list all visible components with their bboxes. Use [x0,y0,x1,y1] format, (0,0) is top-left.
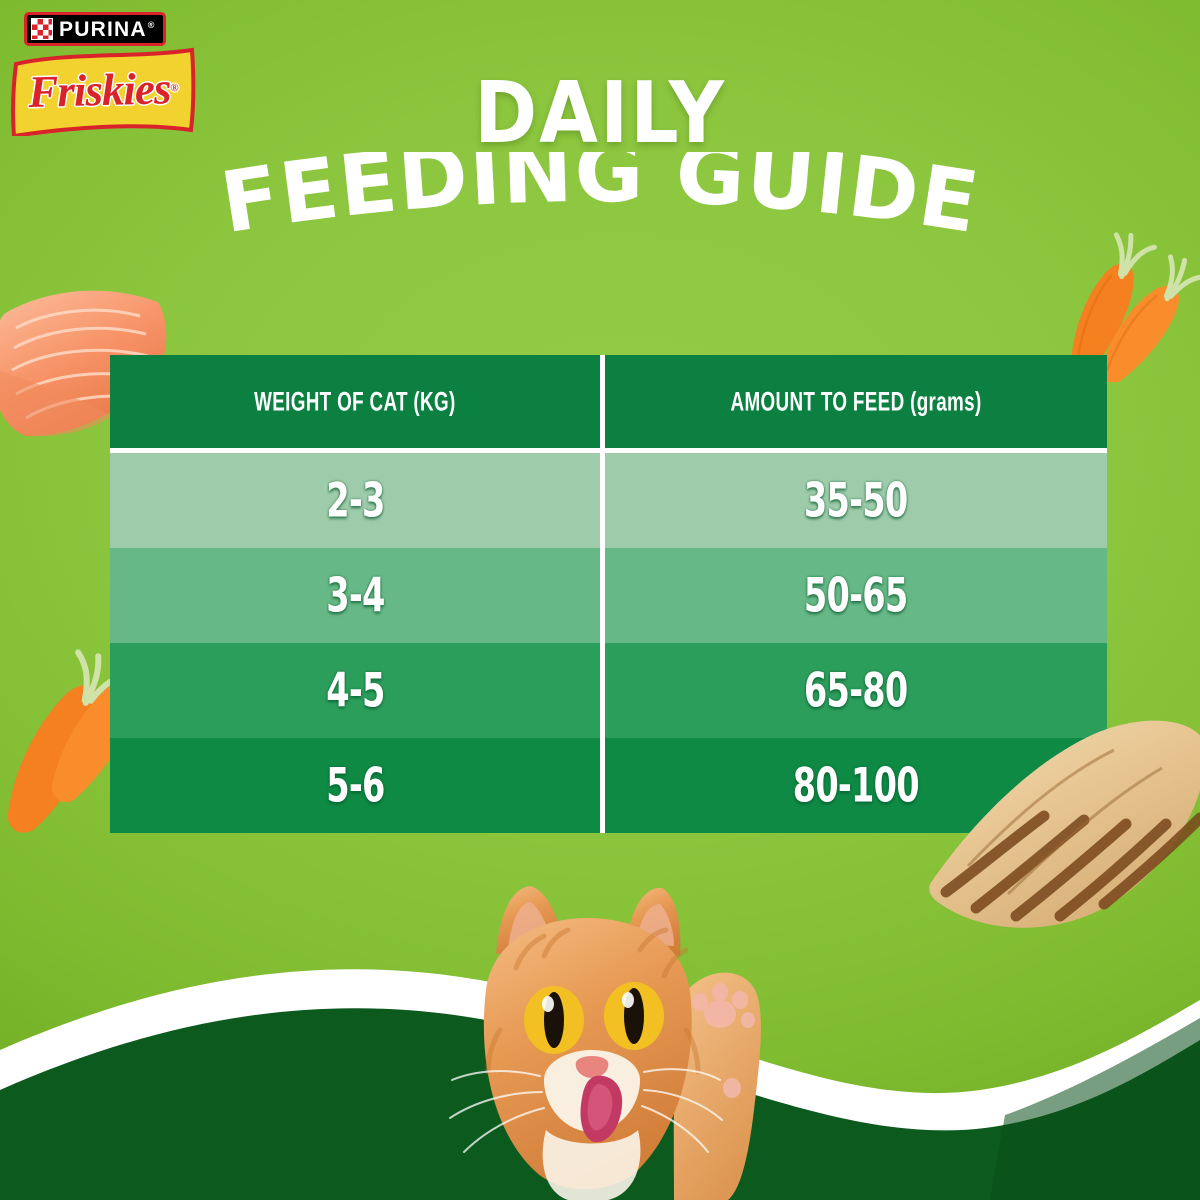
title-line-feeding-guide: FEEDING GUIDE [0,152,1200,262]
purina-checkerboard-icon [31,18,53,40]
table-cell-weight-value: 3-4 [326,568,384,623]
friskies-text: Friskies [28,62,171,118]
carrots-middle-left-image [0,648,126,833]
table-cell-weight-value: 5-6 [326,758,384,813]
table-cell-weight-value: 4-5 [326,663,384,718]
table-cell-weight-value: 2-3 [326,473,384,528]
table-cell-weight: 5-6 [110,738,605,833]
table-cell-weight: 3-4 [110,548,605,643]
table-cell-amount: 50-65 [605,548,1107,643]
friskies-wordmark: Friskies® [7,42,199,139]
friskies-logo: Friskies® [8,44,198,136]
table-cell-amount: 35-50 [605,453,1107,548]
table-cell-amount-value: 35-50 [804,473,907,528]
table-cell-amount-value: 65-80 [804,663,907,718]
table-cell-amount-value: 80-100 [793,758,919,813]
table-cell-weight: 2-3 [110,453,605,548]
grilled-chicken-image [908,716,1200,941]
table-row: 3-4 50-65 [110,548,1107,643]
table-header-row: WEIGHT OF CAT (KG) AMOUNT TO FEED (grams… [110,355,1107,453]
purina-logo: PURINA ® [24,12,166,46]
table-header-weight: WEIGHT OF CAT (KG) [110,355,605,448]
friskies-registered-icon: ® [170,82,178,94]
purina-registered-icon: ® [148,21,156,30]
table-header-weight-label: WEIGHT OF CAT (KG) [254,386,455,418]
svg-text:FEEDING GUIDE: FEEDING GUIDE [215,152,986,252]
purina-wordmark: PURINA [59,19,147,40]
table-cell-weight: 4-5 [110,643,605,738]
title-arc-text: FEEDING GUIDE [215,152,986,252]
ginger-cat-image [368,880,848,1200]
table-cell-amount-value: 50-65 [804,568,907,623]
table-row: 2-3 35-50 [110,453,1107,548]
table-header-amount-label: AMOUNT TO FEED (grams) [730,386,981,418]
table-header-amount: AMOUNT TO FEED (grams) [605,355,1107,448]
poster-canvas: PURINA ® Friskies® DAILY FEEDING GUIDE [0,0,1200,1200]
brand-logo: PURINA ® Friskies® [8,6,198,136]
